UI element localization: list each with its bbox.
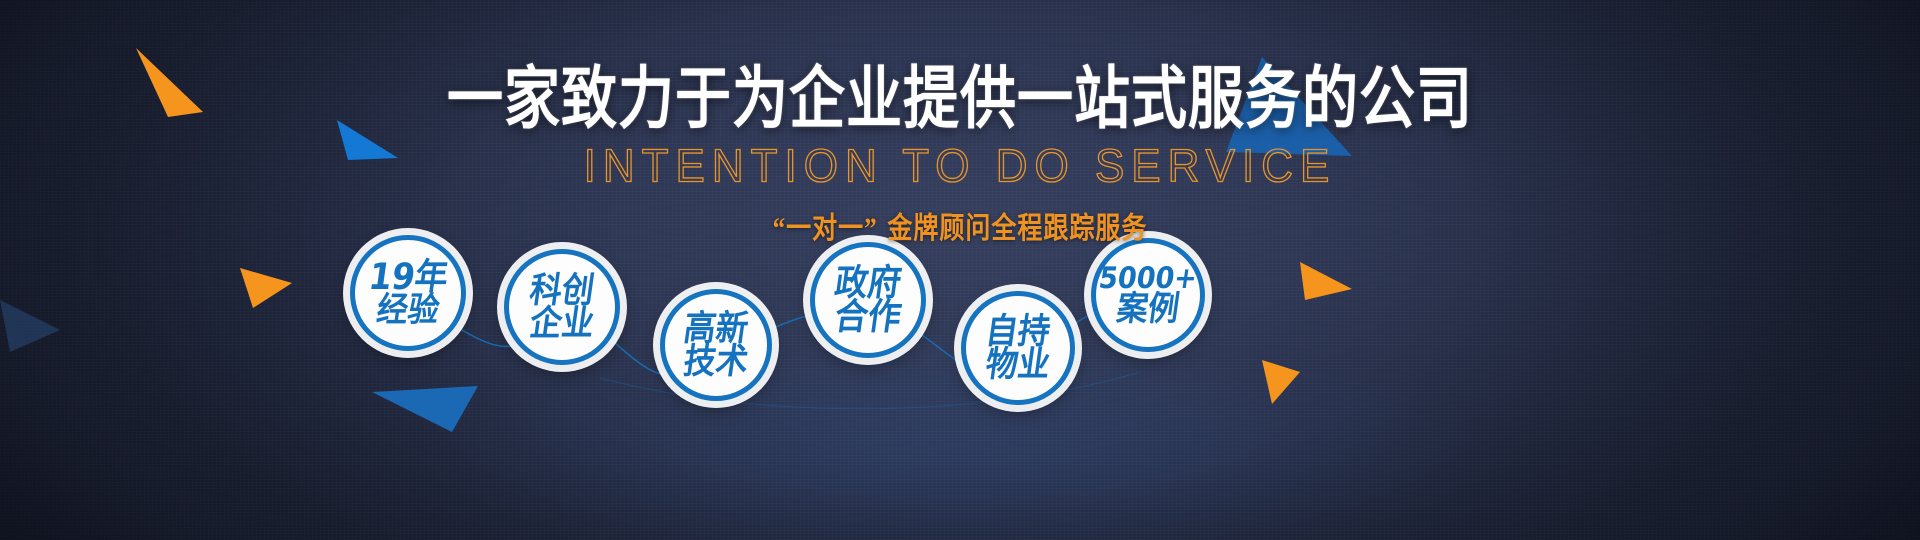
badge-property[interactable]: 自持物业 <box>961 291 1075 405</box>
headline-block: 一家致力于为企业提供一站式服务的公司 INTENTION TO DO SERVI… <box>0 66 1920 244</box>
badge-line2: 技术 <box>681 343 750 380</box>
badge-line2: 企业 <box>527 305 596 342</box>
tagline-open-quote: “ <box>773 213 787 245</box>
tagline: “一对一” 金牌顾问全程跟踪服务 <box>0 205 1920 247</box>
badge-cases[interactable]: 5000+案例 <box>1091 238 1205 352</box>
subtitle-english: INTENTION TO DO SERVICE <box>0 141 1920 194</box>
badge-government[interactable]: 政府合作 <box>810 242 926 358</box>
badge-line2: 案例 <box>1115 291 1182 326</box>
badge-line2: 物业 <box>983 346 1052 383</box>
badge-hightech[interactable]: 高新技术 <box>660 289 772 401</box>
hero-banner: 一家致力于为企业提供一站式服务的公司 INTENTION TO DO SERVI… <box>0 0 1920 540</box>
tagline-close-quote: ” <box>864 213 878 245</box>
tagline-highlight: 一对一 <box>786 211 864 245</box>
page-title: 一家致力于为企业提供一站式服务的公司 <box>0 66 1920 134</box>
tagline-rest: 金牌顾问全程跟踪服务 <box>887 211 1147 245</box>
badge-experience[interactable]: 19年经验 <box>350 235 466 351</box>
badge-innovation[interactable]: 科创企业 <box>504 249 620 365</box>
badge-line2: 合作 <box>832 298 903 336</box>
badge-line2: 经验 <box>375 292 442 327</box>
